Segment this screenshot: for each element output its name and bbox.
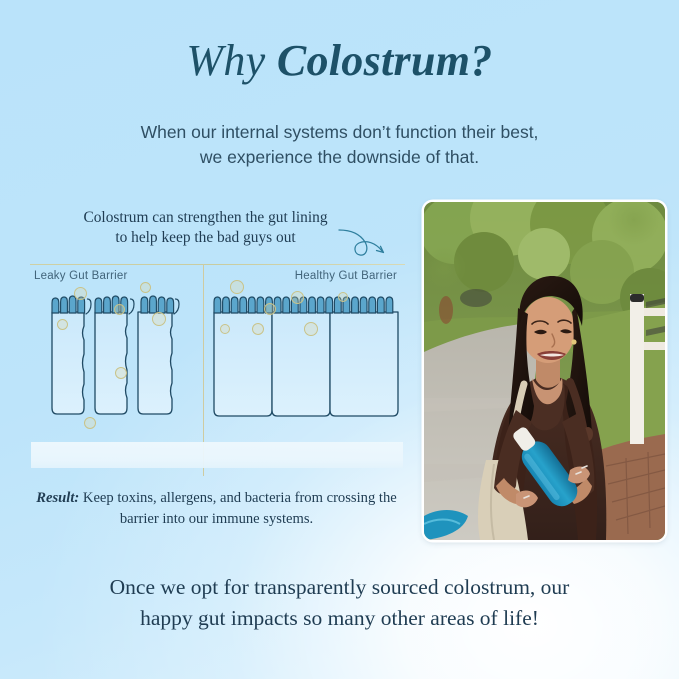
healthy-particle xyxy=(304,322,318,336)
leaky-particle xyxy=(74,287,87,300)
infographic-page: Why Colostrum? When our internal systems… xyxy=(0,0,679,679)
page-subtitle: When our internal systems don’t function… xyxy=(60,120,619,171)
page-title: Why Colostrum? xyxy=(0,38,679,84)
lifestyle-photo xyxy=(424,202,665,540)
diagram-caption-line-1: Colostrum can strengthen the gut lining xyxy=(22,208,389,228)
leaky-particle xyxy=(57,319,68,330)
diagram-caption: Colostrum can strengthen the gut lining … xyxy=(22,208,389,249)
leaky-particle xyxy=(152,312,166,326)
subtitle-line-2: we experience the downside of that. xyxy=(60,145,619,170)
title-part-why: Why xyxy=(186,36,276,85)
healthy-particles xyxy=(212,278,402,438)
leaky-particle xyxy=(140,282,151,293)
result-body: Keep toxins, allergens, and bacteria fro… xyxy=(79,490,396,527)
curly-arrow-icon xyxy=(338,224,400,264)
healthy-particle xyxy=(264,303,276,315)
diagram-result-text: Result: Keep toxins, allergens, and bact… xyxy=(26,488,407,529)
leaky-particle xyxy=(115,367,127,379)
photo-illustration xyxy=(424,202,665,540)
leaky-particle xyxy=(114,304,125,315)
healthy-particle xyxy=(230,280,244,294)
footer-text: Once we opt for transparently sourced co… xyxy=(64,572,615,633)
healthy-particle xyxy=(220,324,230,334)
chart-top-rule xyxy=(30,264,405,265)
healthy-particle xyxy=(291,291,304,304)
healthy-particle xyxy=(338,292,348,302)
footer-line-1: Once we opt for transparently sourced co… xyxy=(64,572,615,603)
barrier-chart: Leaky Gut Barrier Healthy Gut Barrier xyxy=(22,264,407,476)
title-part-colostrum: Colostrum? xyxy=(277,36,493,85)
leaky-particle xyxy=(84,417,96,429)
diagram-caption-line-2: to help keep the bad guys out xyxy=(22,228,389,248)
basement-membrane xyxy=(31,442,403,468)
result-label: Result: xyxy=(36,490,79,506)
healthy-particle xyxy=(252,323,264,335)
footer-line-2: happy gut impacts so many other areas of… xyxy=(64,603,615,634)
gut-barrier-diagram: Colostrum can strengthen the gut lining … xyxy=(22,200,407,540)
subtitle-line-1: When our internal systems don’t function… xyxy=(60,120,619,145)
leaky-particles xyxy=(30,278,202,438)
